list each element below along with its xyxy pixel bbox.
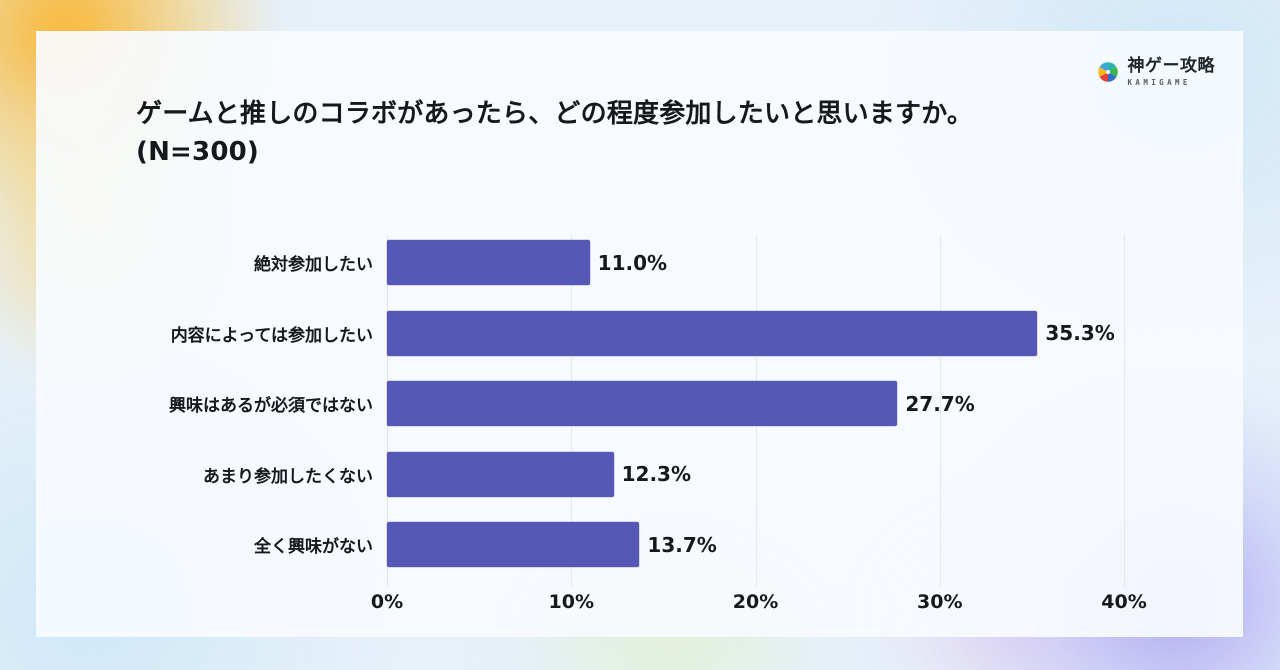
bar-row: あまり参加したくない12.3% — [387, 452, 691, 497]
bar — [387, 381, 897, 426]
x-tick-label: 0% — [371, 591, 403, 613]
x-tick-label: 20% — [733, 591, 778, 613]
logo-wordmark: 神ゲー攻略 KAMIGAME — [1128, 58, 1216, 87]
bar — [387, 240, 590, 285]
category-label: 全く興味がない — [254, 532, 373, 557]
category-label: 絶対参加したい — [254, 250, 373, 275]
kamigame-logo: 神ゲー攻略 KAMIGAME — [1095, 58, 1216, 87]
plot-area: 絶対参加したい11.0%内容によっては参加したい35.3%興味はあるが必須ではな… — [387, 234, 1124, 587]
logo-en-text: KAMIGAME — [1128, 79, 1216, 87]
chart-card: 神ゲー攻略 KAMIGAME ゲームと推しのコラボがあったら、どの程度参加したい… — [36, 31, 1243, 637]
bar-value-label: 11.0% — [598, 251, 667, 275]
kamigame-pinwheel-icon — [1095, 59, 1121, 85]
bar-value-label: 13.7% — [647, 533, 716, 557]
category-label: あまり参加したくない — [203, 462, 373, 487]
category-label: 興味はあるが必須ではない — [169, 391, 373, 416]
bar-row: 興味はあるが必須ではない27.7% — [387, 381, 975, 426]
x-tick-label: 10% — [549, 591, 594, 613]
gridline-40 — [1124, 234, 1125, 587]
x-tick-label: 40% — [1101, 591, 1146, 613]
bar — [387, 452, 614, 497]
bar-rows: 絶対参加したい11.0%内容によっては参加したい35.3%興味はあるが必須ではな… — [387, 234, 1124, 587]
bar-value-label: 35.3% — [1045, 321, 1114, 345]
logo-jp-text: 神ゲー攻略 — [1128, 58, 1216, 75]
bar-row: 絶対参加したい11.0% — [387, 240, 667, 285]
chart-title: ゲームと推しのコラボがあったら、どの程度参加したいと思いますか。 (N=300) — [136, 95, 1156, 171]
bar-row: 全く興味がない13.7% — [387, 522, 717, 567]
bar-chart: 絶対参加したい11.0%内容によっては参加したい35.3%興味はあるが必須ではな… — [36, 203, 1243, 623]
category-label: 内容によっては参加したい — [171, 321, 373, 346]
bar-row: 内容によっては参加したい35.3% — [387, 311, 1115, 356]
bar — [387, 522, 639, 567]
x-tick-label: 30% — [917, 591, 962, 613]
page-background: 神ゲー攻略 KAMIGAME ゲームと推しのコラボがあったら、どの程度参加したい… — [0, 0, 1280, 670]
chart-title-line2: (N=300) — [136, 133, 1156, 171]
bar — [387, 311, 1037, 356]
chart-title-line1: ゲームと推しのコラボがあったら、どの程度参加したいと思いますか。 — [136, 99, 973, 129]
bar-value-label: 12.3% — [622, 462, 691, 486]
bar-value-label: 27.7% — [905, 392, 974, 416]
